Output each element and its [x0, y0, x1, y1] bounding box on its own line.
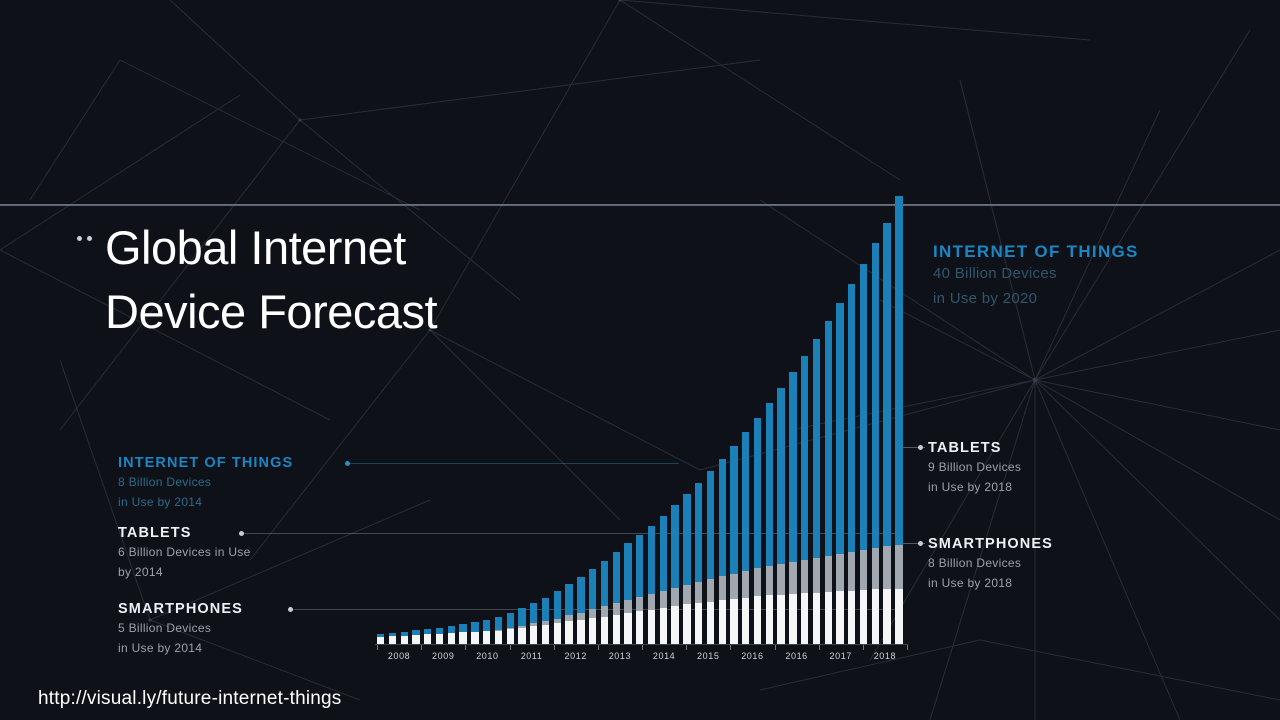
bar-segment-internet-of-things: [801, 356, 808, 560]
callout-anchor-dot: [918, 445, 923, 450]
callout-line-1: 9 Billion Devices: [928, 457, 1021, 477]
bar-segment-internet-of-things: [495, 617, 502, 630]
bar-segment-tablets: [754, 568, 761, 596]
callout-line-1: 8 Billion Devices: [118, 472, 293, 492]
x-axis-tick: [907, 645, 908, 650]
bar-segment-internet-of-things: [730, 446, 737, 574]
bar-segment-tablets: [895, 545, 902, 589]
bar-segment-smartphones: [412, 635, 419, 644]
stacked-bar-chart: [377, 196, 907, 644]
x-axis-tick: [554, 645, 555, 650]
bar-segment-smartphones: [825, 592, 832, 644]
bar-segment-tablets: [530, 623, 537, 626]
bar-segment-tablets: [507, 628, 514, 629]
bar-segment-tablets: [554, 619, 561, 624]
bar-segment-tablets: [766, 566, 773, 595]
callout-line-1: 5 Billion Devices: [118, 618, 243, 638]
bar-segment-smartphones: [518, 628, 525, 644]
slide-canvas: Global Internet Device Forecast 20082009…: [0, 0, 1280, 720]
quote-dots-decoration: [77, 228, 101, 236]
bar-segment-tablets: [671, 588, 678, 606]
callout-right-internet-of-things: INTERNET OF THINGS 40 Billion Devices in…: [933, 243, 1139, 311]
bar-segment-internet-of-things: [412, 630, 419, 635]
bar-segment-internet-of-things: [754, 418, 761, 568]
bar-segment-internet-of-things: [424, 629, 431, 634]
callout-title: TABLETS: [928, 439, 1021, 457]
bar-segment-internet-of-things: [436, 628, 443, 634]
bar-segment-internet-of-things: [601, 561, 608, 606]
x-axis-year-label: 2015: [697, 651, 719, 661]
bar-segment-tablets: [565, 615, 572, 621]
x-axis-tick: [377, 645, 378, 650]
bar-segment-internet-of-things: [589, 569, 596, 609]
callout-anchor-dot: [345, 461, 350, 466]
bar-segment-smartphones: [624, 613, 631, 644]
x-axis-tick: [598, 645, 599, 650]
bar-segment-internet-of-things: [872, 243, 879, 547]
bar-segment-smartphones: [836, 591, 843, 644]
x-axis-tick: [775, 645, 776, 650]
x-axis-year-label: 2010: [476, 651, 498, 661]
bar-segment-tablets: [648, 594, 655, 610]
bar-segment-tablets: [707, 579, 714, 602]
callout-line-2: in Use by 2020: [933, 286, 1139, 311]
bar-segment-internet-of-things: [389, 633, 396, 636]
callout-line-1: 8 Billion Devices: [928, 553, 1053, 573]
bar-segment-internet-of-things: [766, 403, 773, 566]
bar-segment-tablets: [542, 621, 549, 624]
source-url[interactable]: http://visual.ly/future-internet-things: [38, 688, 342, 710]
bar-segment-internet-of-things: [483, 620, 490, 631]
bar-segment-internet-of-things: [660, 516, 667, 591]
x-axis-tick: [819, 645, 820, 650]
bar-segment-internet-of-things: [860, 264, 867, 550]
callout-title: SMARTPHONES: [928, 535, 1053, 553]
bar-segment-internet-of-things: [777, 388, 784, 564]
bar-segment-internet-of-things: [459, 624, 466, 632]
bar-segment-smartphones: [459, 632, 466, 644]
callout-line-2: in Use by 2018: [928, 573, 1053, 593]
bar-segment-smartphones: [542, 625, 549, 644]
callout-line-1: 6 Billion Devices in Use: [118, 542, 251, 562]
bar-segment-internet-of-things: [448, 626, 455, 633]
bar-segment-internet-of-things: [577, 577, 584, 613]
bar-segment-tablets: [872, 548, 879, 590]
bar-segment-tablets: [848, 552, 855, 591]
bar-segment-smartphones: [483, 631, 490, 644]
callout-title: SMARTPHONES: [118, 600, 243, 618]
callout-line-2: in Use by 2014: [118, 638, 243, 658]
bar-segment-smartphones: [848, 591, 855, 644]
bar-segment-internet-of-things: [719, 459, 726, 577]
bar-segment-tablets: [801, 560, 808, 594]
callout-title: INTERNET OF THINGS: [933, 243, 1139, 261]
bar-segment-smartphones: [695, 603, 702, 644]
bar-segment-tablets: [695, 582, 702, 603]
x-axis-year-label: 2017: [830, 651, 852, 661]
x-axis-tick: [863, 645, 864, 650]
callout-anchor-dot: [239, 531, 244, 536]
bar-segment-tablets: [742, 571, 749, 598]
bar-segment-internet-of-things: [648, 526, 655, 594]
bar-segment-tablets: [777, 564, 784, 595]
bar-segment-internet-of-things: [671, 505, 678, 588]
x-axis-tick: [510, 645, 511, 650]
callout-left-internet-of-things: INTERNET OF THINGS 8 Billion Devices in …: [118, 454, 293, 512]
bar-segment-smartphones: [754, 596, 761, 644]
bar-segment-smartphones: [601, 617, 608, 644]
bar-segment-tablets: [825, 556, 832, 592]
bar-segment-smartphones: [766, 595, 773, 644]
bar-segment-internet-of-things: [848, 284, 855, 552]
bar-segment-tablets: [789, 562, 796, 594]
callout-title: INTERNET OF THINGS: [118, 454, 293, 472]
callout-line-1: 40 Billion Devices: [933, 261, 1139, 286]
x-axis-tick: [642, 645, 643, 650]
bar-segment-smartphones: [495, 630, 502, 644]
x-axis-year-label: 2012: [565, 651, 587, 661]
callout-anchor-dot: [288, 607, 293, 612]
bar-segment-smartphones: [883, 589, 890, 644]
bar-segment-smartphones: [448, 633, 455, 644]
bar-segment-smartphones: [660, 608, 667, 644]
bar-segment-smartphones: [789, 594, 796, 644]
bar-segment-internet-of-things: [554, 591, 561, 618]
x-axis-year-label: 2016: [785, 651, 807, 661]
bar-segment-smartphones: [589, 618, 596, 644]
bar-segment-internet-of-things: [471, 622, 478, 632]
x-axis-year-label: 2018: [874, 651, 896, 661]
x-axis-year-label: 2016: [741, 651, 763, 661]
callout-line-2: in Use by 2014: [118, 492, 293, 512]
bar-segment-internet-of-things: [813, 339, 820, 558]
bar-segment-smartphones: [507, 629, 514, 644]
bar-segment-smartphones: [565, 621, 572, 644]
callout-left-smartphones: SMARTPHONES 5 Billion Devices in Use by …: [118, 600, 243, 658]
bar-segment-tablets: [813, 558, 820, 593]
bar-segment-internet-of-things: [518, 608, 525, 626]
bar-segment-internet-of-things: [636, 535, 643, 597]
bar-segment-smartphones: [577, 620, 584, 644]
x-axis-tick: [730, 645, 731, 650]
bar-segment-smartphones: [530, 626, 537, 644]
bar-segment-internet-of-things: [542, 598, 549, 622]
bar-segment-internet-of-things: [695, 483, 702, 582]
x-axis-year-label: 2009: [432, 651, 454, 661]
callout-title: TABLETS: [118, 524, 251, 542]
bar-segment-smartphones: [813, 593, 820, 644]
x-axis-tick: [465, 645, 466, 650]
bar-segment-smartphones: [801, 593, 808, 644]
bar-segment-smartphones: [554, 623, 561, 644]
bar-segment-tablets: [518, 626, 525, 628]
bar-segment-smartphones: [471, 632, 478, 644]
bar-segment-tablets: [589, 609, 596, 618]
x-axis-tick: [421, 645, 422, 650]
bar-segment-internet-of-things: [683, 494, 690, 585]
bar-segment-tablets: [836, 554, 843, 592]
bar-segment-tablets: [730, 574, 737, 599]
bar-segment-smartphones: [648, 610, 655, 644]
callout-right-tablets: TABLETS 9 Billion Devices in Use by 2018: [928, 439, 1021, 497]
bar-segment-tablets: [601, 606, 608, 616]
bar-segment-tablets: [613, 603, 620, 615]
bar-segment-smartphones: [377, 637, 384, 644]
bar-segment-tablets: [636, 597, 643, 611]
bar-segment-internet-of-things: [530, 603, 537, 624]
bar-segment-internet-of-things: [789, 372, 796, 561]
callout-line-2: in Use by 2018: [928, 477, 1021, 497]
bar-segment-internet-of-things: [895, 196, 902, 545]
bar-segment-smartphones: [389, 636, 396, 644]
bar-segment-smartphones: [719, 600, 726, 644]
bar-segment-smartphones: [707, 602, 714, 644]
bar-segment-internet-of-things: [377, 634, 384, 637]
callout-line-2: by 2014: [118, 562, 251, 582]
bar-segment-tablets: [495, 630, 502, 631]
bar-segment-smartphones: [424, 634, 431, 644]
bar-segment-tablets: [719, 576, 726, 600]
bar-segment-smartphones: [742, 598, 749, 645]
callout-left-tablets: TABLETS 6 Billion Devices in Use by 2014: [118, 524, 251, 582]
bar-segment-smartphones: [613, 615, 620, 644]
bar-segment-tablets: [860, 550, 867, 590]
bar-segment-smartphones: [671, 606, 678, 644]
bar-segment-internet-of-things: [883, 223, 890, 547]
bar-segment-internet-of-things: [825, 321, 832, 556]
bar-segment-smartphones: [636, 611, 643, 644]
x-axis-year-label: 2011: [521, 651, 543, 661]
bar-segment-smartphones: [683, 604, 690, 644]
bar-segment-internet-of-things: [707, 471, 714, 579]
bar-segment-smartphones: [401, 636, 408, 644]
bar-segment-tablets: [683, 585, 690, 605]
callout-right-smartphones: SMARTPHONES 8 Billion Devices in Use by …: [928, 535, 1053, 593]
bar-segment-internet-of-things: [565, 584, 572, 615]
bar-segment-smartphones: [872, 589, 879, 644]
bar-segment-tablets: [577, 613, 584, 621]
x-axis-year-label: 2014: [653, 651, 675, 661]
callout-anchor-dot: [918, 541, 923, 546]
bar-segment-smartphones: [895, 589, 902, 644]
bar-segment-tablets: [660, 591, 667, 608]
bar-segment-tablets: [883, 546, 890, 589]
bar-segment-internet-of-things: [624, 543, 631, 599]
bar-segment-smartphones: [730, 599, 737, 644]
bar-segment-smartphones: [436, 634, 443, 644]
bar-segment-smartphones: [860, 590, 867, 644]
bar-segment-smartphones: [777, 595, 784, 644]
bar-segment-internet-of-things: [507, 613, 514, 628]
bar-segment-internet-of-things: [401, 632, 408, 636]
x-axis-year-label: 2008: [388, 651, 410, 661]
x-axis-year-label: 2013: [609, 651, 631, 661]
x-axis-tick: [686, 645, 687, 650]
bar-segment-internet-of-things: [742, 432, 749, 571]
bar-segment-internet-of-things: [613, 552, 620, 603]
bar-segment-tablets: [624, 600, 631, 613]
bar-segment-internet-of-things: [836, 303, 843, 554]
